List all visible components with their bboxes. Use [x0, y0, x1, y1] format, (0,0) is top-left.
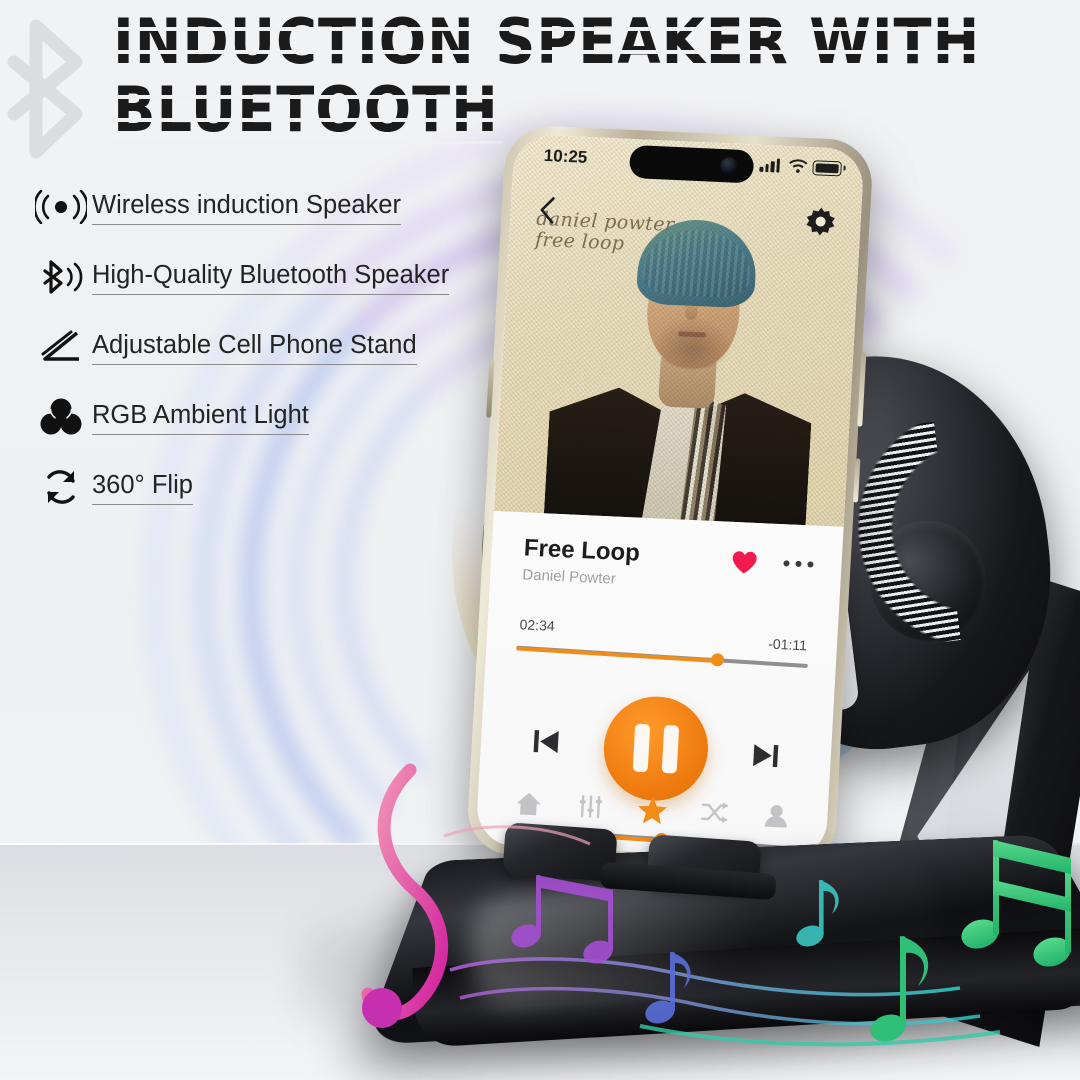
elapsed-time: 02:34: [519, 616, 555, 634]
more-dots-icon[interactable]: [783, 560, 813, 567]
progress-knob[interactable]: [711, 653, 725, 667]
wifi-icon: [788, 158, 808, 174]
gear-icon[interactable]: [806, 207, 836, 236]
track-title: Free Loop: [523, 534, 640, 567]
progress-slider[interactable]: [516, 648, 808, 665]
product-assembly: Induction: [0, 0, 1080, 1080]
remaining-time: -01:11: [768, 636, 808, 654]
dynamic-island: [629, 145, 755, 184]
track-artist: Daniel Powter: [522, 566, 616, 587]
music-notes-decoration: [340, 740, 1080, 1080]
battery-tip: [843, 166, 846, 171]
product-marketing-image: INDUCTION SPEAKER WITH BLUETOOTH Wireles…: [0, 0, 1080, 1080]
heart-filled-icon[interactable]: [731, 550, 758, 575]
cellular-bars-icon: [759, 158, 780, 173]
chevron-left-icon[interactable]: [536, 195, 560, 226]
progress-fill: [516, 646, 717, 663]
status-time: 10:25: [543, 146, 588, 168]
battery-full-icon: [812, 160, 842, 176]
